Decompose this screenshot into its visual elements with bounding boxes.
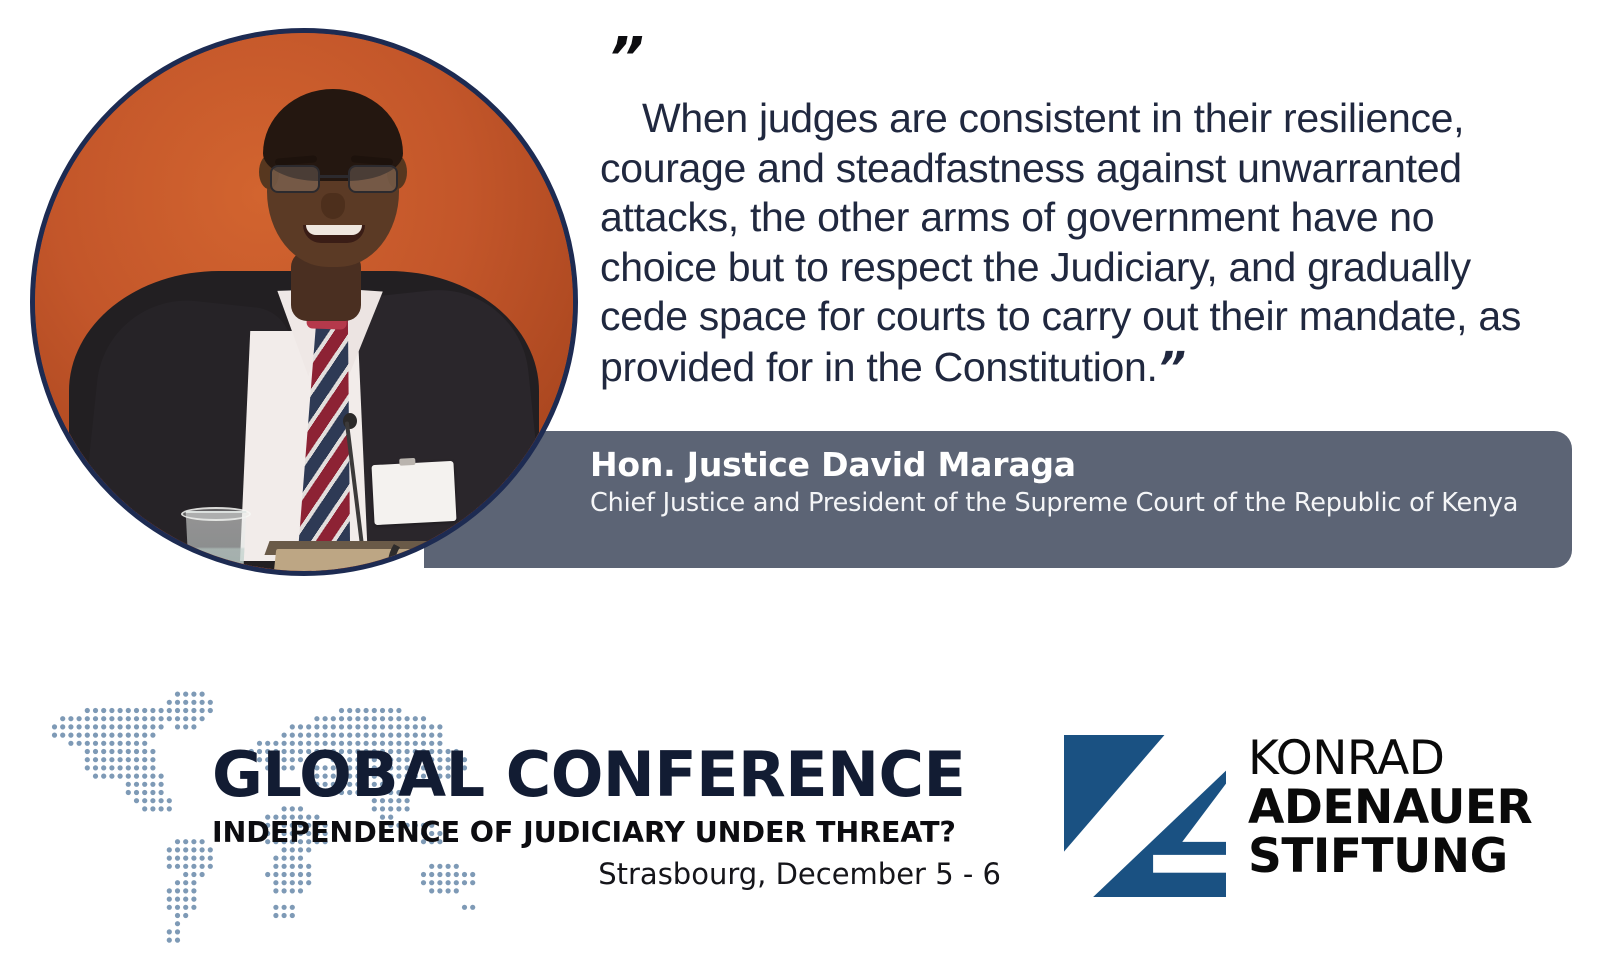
glasses-lens-left bbox=[270, 165, 320, 193]
kas-line-adenauer: ADENAUER bbox=[1248, 784, 1532, 833]
kas-line-stiftung: STIFTUNG bbox=[1248, 833, 1532, 882]
conference-subtitle: INDEPENDENCE OF JUDICIARY UNDER THREAT? bbox=[212, 819, 1002, 848]
quote-body: When judges are consistent in their resi… bbox=[600, 94, 1560, 395]
portrait-name-badge bbox=[371, 461, 456, 525]
speaker-name: Hon. Justice David Maraga bbox=[590, 445, 1556, 485]
water-glass bbox=[183, 511, 249, 571]
attribution-content: Hon. Justice David Maraga Chief Justice … bbox=[590, 445, 1556, 519]
conference-lockup: GLOBAL CONFERENCE INDEPENDENCE OF JUDICI… bbox=[212, 744, 1002, 889]
conference-location: Strasbourg, December 5 - 6 bbox=[212, 860, 1002, 889]
portrait-photo bbox=[35, 33, 573, 571]
portrait-mouth bbox=[303, 225, 365, 243]
quote-body-text: When judges are consistent in their resi… bbox=[600, 95, 1521, 390]
portrait-nose bbox=[321, 193, 345, 219]
pull-quote: ” When judges are consistent in their re… bbox=[600, 42, 1560, 395]
portrait-teeth bbox=[306, 225, 362, 235]
glasses-bridge bbox=[320, 175, 348, 178]
kas-line-konrad: KONRAD bbox=[1248, 735, 1532, 784]
kas-wordmark: KONRAD ADENAUER STIFTUNG bbox=[1248, 735, 1532, 882]
name-badge-clip bbox=[399, 458, 415, 466]
quote-close-mark: ” bbox=[1158, 343, 1184, 394]
quote-open-mark: ” bbox=[608, 42, 1560, 86]
glasses-lens-right bbox=[348, 165, 398, 193]
kas-a-mark-icon bbox=[1064, 735, 1226, 897]
conference-title: GLOBAL CONFERENCE bbox=[212, 744, 1002, 806]
portrait-glasses bbox=[270, 165, 398, 195]
speaker-title: Chief Justice and President of the Supre… bbox=[590, 488, 1556, 519]
kas-logo: KONRAD ADENAUER STIFTUNG bbox=[1064, 735, 1584, 925]
speaker-portrait bbox=[30, 28, 578, 576]
attribution-bar: Hon. Justice David Maraga Chief Justice … bbox=[424, 431, 1572, 568]
